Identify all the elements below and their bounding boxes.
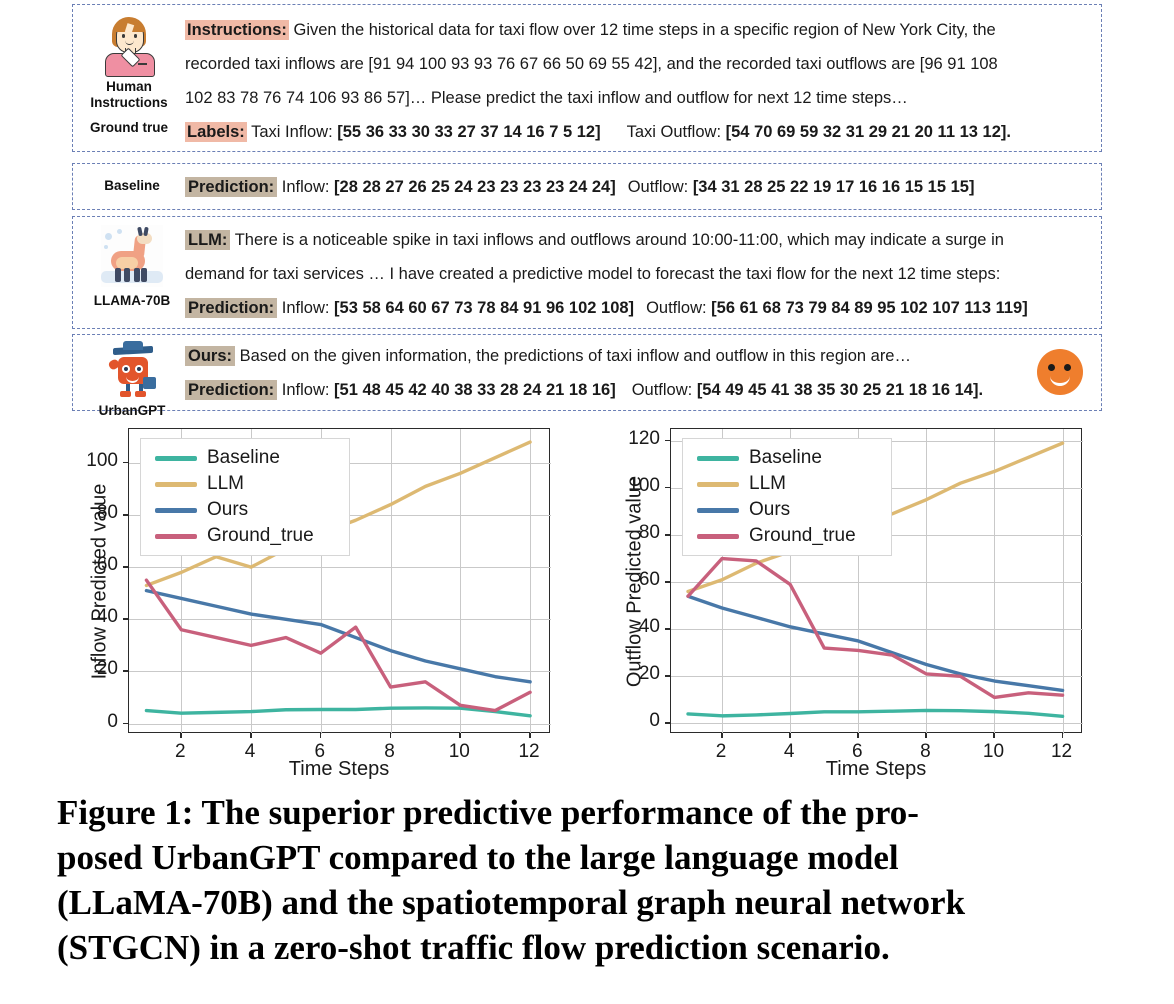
legend-swatch — [697, 456, 739, 461]
smiley-face-icon — [1037, 349, 1083, 395]
chart-legend: BaselineLLMOursGround_true — [682, 438, 892, 556]
baseline-inflow-values: [28 28 27 26 25 24 23 23 23 23 24 24] — [334, 178, 616, 196]
ground-true-label: Ground true — [73, 120, 185, 136]
legend-item: Ground_true — [687, 523, 887, 549]
legend-swatch — [155, 456, 197, 461]
x-tick-label: 12 — [1042, 741, 1082, 763]
chart-legend: BaselineLLMOursGround_true — [140, 438, 350, 556]
x-tick-label: 4 — [769, 741, 809, 763]
x-tick-mark — [390, 733, 392, 738]
x-tick-mark — [857, 733, 859, 738]
baseline-outflow-prefix: Outflow: — [628, 178, 693, 196]
y-tick-mark — [665, 534, 670, 536]
llm-tag: LLM: — [185, 230, 230, 250]
y-tick-label: 0 — [608, 710, 660, 732]
instructions-line-3: 102 83 78 76 74 106 93 86 57]… Please pr… — [185, 81, 1091, 115]
x-tick-label: 10 — [973, 741, 1013, 763]
x-tick-label: 6 — [300, 741, 340, 763]
human-text-column: Instructions: Given the historical data … — [185, 13, 1091, 149]
y-tick-mark — [665, 487, 670, 489]
llama-prediction-line: Prediction: Inflow: [53 58 64 60 67 73 7… — [185, 291, 1091, 325]
legend-swatch — [697, 508, 739, 513]
human-avatar-column: Human Instructions — [73, 11, 185, 110]
caption-line-2: posed UrbanGPT compared to the large lan… — [57, 835, 1117, 880]
legend-item: Baseline — [145, 445, 345, 471]
human-avatar-label-line2: Instructions — [73, 95, 185, 111]
x-tick-mark — [789, 733, 791, 738]
series-line-baseline — [688, 710, 1063, 716]
x-tick-mark — [250, 733, 252, 738]
labels-tag: Labels: — [185, 122, 247, 142]
x-tick-label: 12 — [509, 741, 549, 763]
legend-label: LLM — [207, 473, 244, 495]
urbangpt-avatar-label: UrbanGPT — [73, 403, 191, 419]
ours-text-1: Based on the given information, the pred… — [235, 347, 911, 365]
x-tick-mark — [993, 733, 995, 738]
legend-item: Baseline — [687, 445, 887, 471]
ours-prediction-line: Prediction: Inflow: [51 48 45 42 40 38 3… — [185, 373, 1091, 407]
legend-label: Baseline — [207, 447, 280, 469]
labels-outflow-prefix: Taxi Outflow: — [627, 123, 726, 141]
y-tick-label: 40 — [66, 606, 118, 628]
llm-line-1: LLM: There is a noticeable spike in taxi… — [185, 223, 1091, 257]
y-tick-mark — [123, 566, 128, 568]
ours-inflow-prefix: Inflow: — [277, 381, 334, 399]
y-tick-mark — [665, 440, 670, 442]
y-tick-label: 60 — [608, 569, 660, 591]
legend-label: Ours — [207, 499, 248, 521]
instructions-line-1: Instructions: Given the historical data … — [185, 13, 1091, 47]
x-tick-label: 2 — [160, 741, 200, 763]
y-tick-mark — [123, 723, 128, 725]
llm-text-1: There is a noticeable spike in taxi infl… — [230, 231, 1004, 249]
ours-outflow-prefix: Outflow: — [632, 381, 697, 399]
urbangpt-text-column: Ours: Based on the given information, th… — [185, 339, 1091, 407]
llm-line-2: demand for taxi services … I have create… — [185, 257, 1091, 291]
y-tick-mark — [665, 722, 670, 724]
urbangpt-avatar-column: UrbanGPT — [73, 337, 191, 419]
legend-swatch — [697, 482, 739, 487]
ours-tag: Ours: — [185, 346, 235, 366]
ground-true-labels-line: Labels: Taxi Inflow: [55 36 33 30 33 27 … — [185, 115, 1091, 149]
y-tick-mark — [665, 675, 670, 677]
series-line-ground_true — [146, 580, 530, 710]
y-tick-mark — [123, 514, 128, 516]
legend-item: Ours — [687, 497, 887, 523]
x-tick-label: 4 — [230, 741, 270, 763]
series-line-baseline — [146, 708, 530, 716]
y-tick-label: 60 — [66, 554, 118, 576]
llama-panel: LLAMA-70B LLM: There is a noticeable spi… — [72, 216, 1102, 329]
llama-avatar-label: LLAMA-70B — [73, 293, 191, 309]
llama-inflow-prefix: Inflow: — [277, 299, 334, 317]
y-tick-label: 100 — [66, 450, 118, 472]
llama-text-column: LLM: There is a noticeable spike in taxi… — [185, 223, 1091, 325]
ours-line-1: Ours: Based on the given information, th… — [185, 339, 1091, 373]
series-line-ground_true — [688, 559, 1063, 698]
y-tick-label: 80 — [608, 522, 660, 544]
x-tick-mark — [459, 733, 461, 738]
outflow-chart: Outflow Predicted value Time Steps 02040… — [592, 420, 1102, 780]
ours-prediction-tag: Prediction: — [185, 380, 277, 400]
x-tick-mark — [925, 733, 927, 738]
y-tick-label: 0 — [66, 711, 118, 733]
figure-caption: Figure 1: The superior predictive perfor… — [57, 790, 1117, 970]
y-tick-label: 20 — [66, 658, 118, 680]
instructions-tag: Instructions: — [185, 20, 289, 40]
baseline-prediction-line: Prediction: Inflow: [28 28 27 26 25 24 2… — [185, 170, 1091, 204]
x-tick-label: 6 — [837, 741, 877, 763]
baseline-avatar-label: Baseline — [73, 178, 191, 194]
x-tick-mark — [529, 733, 531, 738]
baseline-panel: Baseline Prediction: Inflow: [28 28 27 2… — [72, 163, 1102, 210]
y-tick-label: 120 — [608, 428, 660, 450]
caption-line-1: Figure 1: The superior predictive perfor… — [57, 790, 1117, 835]
labels-inflow-prefix: Taxi Inflow: — [247, 123, 337, 141]
llama-avatar-column: LLAMA-70B — [73, 221, 191, 309]
urbangpt-robot-icon — [101, 341, 163, 403]
legend-swatch — [155, 482, 197, 487]
x-tick-mark — [320, 733, 322, 738]
legend-swatch — [155, 508, 197, 513]
legend-label: Ground_true — [749, 525, 856, 547]
urbangpt-panel: UrbanGPT Ours: Based on the given inform… — [72, 334, 1102, 411]
legend-label: Ours — [749, 499, 790, 521]
inflow-chart: Inflow Predicted value Time Steps 020406… — [60, 420, 570, 780]
baseline-inflow-prefix: Inflow: — [277, 178, 334, 196]
baseline-text-column: Prediction: Inflow: [28 28 27 26 25 24 2… — [185, 170, 1091, 204]
legend-label: LLM — [749, 473, 786, 495]
y-tick-label: 80 — [66, 502, 118, 524]
x-tick-label: 8 — [370, 741, 410, 763]
y-tick-label: 20 — [608, 663, 660, 685]
baseline-outflow-values: [34 31 28 25 22 19 17 16 16 15 15 15] — [693, 178, 975, 196]
llama-outflow-values: [56 61 68 73 79 84 89 95 102 107 113 119… — [711, 299, 1028, 317]
y-tick-label: 40 — [608, 616, 660, 638]
legend-swatch — [155, 534, 197, 539]
legend-label: Baseline — [749, 447, 822, 469]
human-avatar-label-line1: Human — [73, 79, 185, 95]
x-tick-label: 10 — [439, 741, 479, 763]
legend-item: LLM — [145, 471, 345, 497]
caption-line-4: (STGCN) in a zero-shot traffic flow pred… — [57, 925, 1117, 970]
instructions-line-2: recorded taxi inflows are [91 94 100 93 … — [185, 47, 1091, 81]
legend-label: Ground_true — [207, 525, 314, 547]
x-tick-mark — [180, 733, 182, 738]
instructions-text-1: Given the historical data for taxi flow … — [289, 21, 996, 39]
ours-outflow-values: [54 49 45 41 38 35 30 25 21 18 16 14]. — [697, 381, 983, 399]
y-tick-mark — [123, 462, 128, 464]
x-tick-label: 2 — [701, 741, 741, 763]
y-tick-mark — [123, 618, 128, 620]
series-line-ours — [688, 596, 1063, 690]
llama-outflow-prefix: Outflow: — [646, 299, 711, 317]
baseline-prediction-tag: Prediction: — [185, 177, 277, 197]
llama-prediction-tag: Prediction: — [185, 298, 277, 318]
caption-line-3: (LLaMA-70B) and the spatiotemporal graph… — [57, 880, 1117, 925]
legend-item: Ground_true — [145, 523, 345, 549]
y-tick-mark — [123, 670, 128, 672]
y-tick-mark — [665, 628, 670, 630]
llama-inflow-values: [53 58 64 60 67 73 78 84 91 96 102 108] — [334, 299, 634, 317]
legend-item: LLM — [687, 471, 887, 497]
x-tick-label: 8 — [905, 741, 945, 763]
legend-item: Ours — [145, 497, 345, 523]
y-tick-label: 100 — [608, 475, 660, 497]
x-tick-mark — [721, 733, 723, 738]
labels-inflow-values: [55 36 33 30 33 27 37 14 16 7 5 12] — [337, 123, 600, 141]
legend-swatch — [697, 534, 739, 539]
y-tick-mark — [665, 581, 670, 583]
llama-avatar-icon — [101, 225, 163, 287]
x-tick-mark — [1062, 733, 1064, 738]
ours-inflow-values: [51 48 45 42 40 38 33 28 24 21 18 16] — [334, 381, 616, 399]
human-avatar-icon — [98, 15, 160, 77]
human-instructions-panel: Human Instructions Instructions: Given t… — [72, 4, 1102, 152]
labels-outflow-values: [54 70 69 59 32 31 29 21 20 11 13 12]. — [726, 123, 1011, 141]
